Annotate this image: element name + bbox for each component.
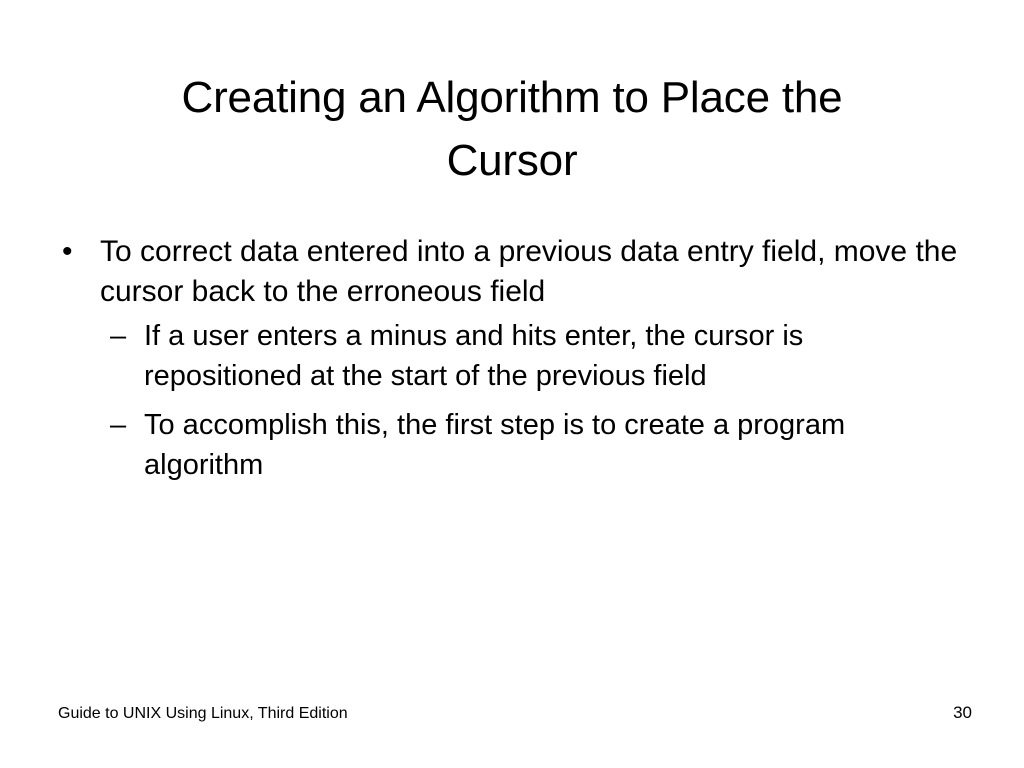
dash-marker-icon: – [110,405,126,445]
slide: Creating an Algorithm to Place the Curso… [0,0,1024,768]
title-line-2: Cursor [62,129,962,192]
page-number: 30 [953,703,972,723]
slide-footer: Guide to UNIX Using Linux, Third Edition… [58,703,972,724]
list-item-text: To correct data entered into a previous … [100,232,960,312]
footer-source-text: Guide to UNIX Using Linux, Third Edition [58,704,348,724]
list-item-text: If a user enters a minus and hits enter,… [144,316,969,396]
list-item: • To correct data entered into a previou… [58,232,970,312]
sub-list: – If a user enters a minus and hits ente… [58,316,970,485]
page-title: Creating an Algorithm to Place the Curso… [62,66,962,192]
list-item: – If a user enters a minus and hits ente… [58,316,970,396]
list-item-text: To accomplish this, the first step is to… [144,405,969,485]
slide-body: • To correct data entered into a previou… [58,232,970,494]
title-line-1: Creating an Algorithm to Place the [62,66,962,129]
bullet-marker-icon: • [62,232,73,272]
dash-marker-icon: – [110,316,126,356]
list-item: – To accomplish this, the first step is … [58,405,970,485]
